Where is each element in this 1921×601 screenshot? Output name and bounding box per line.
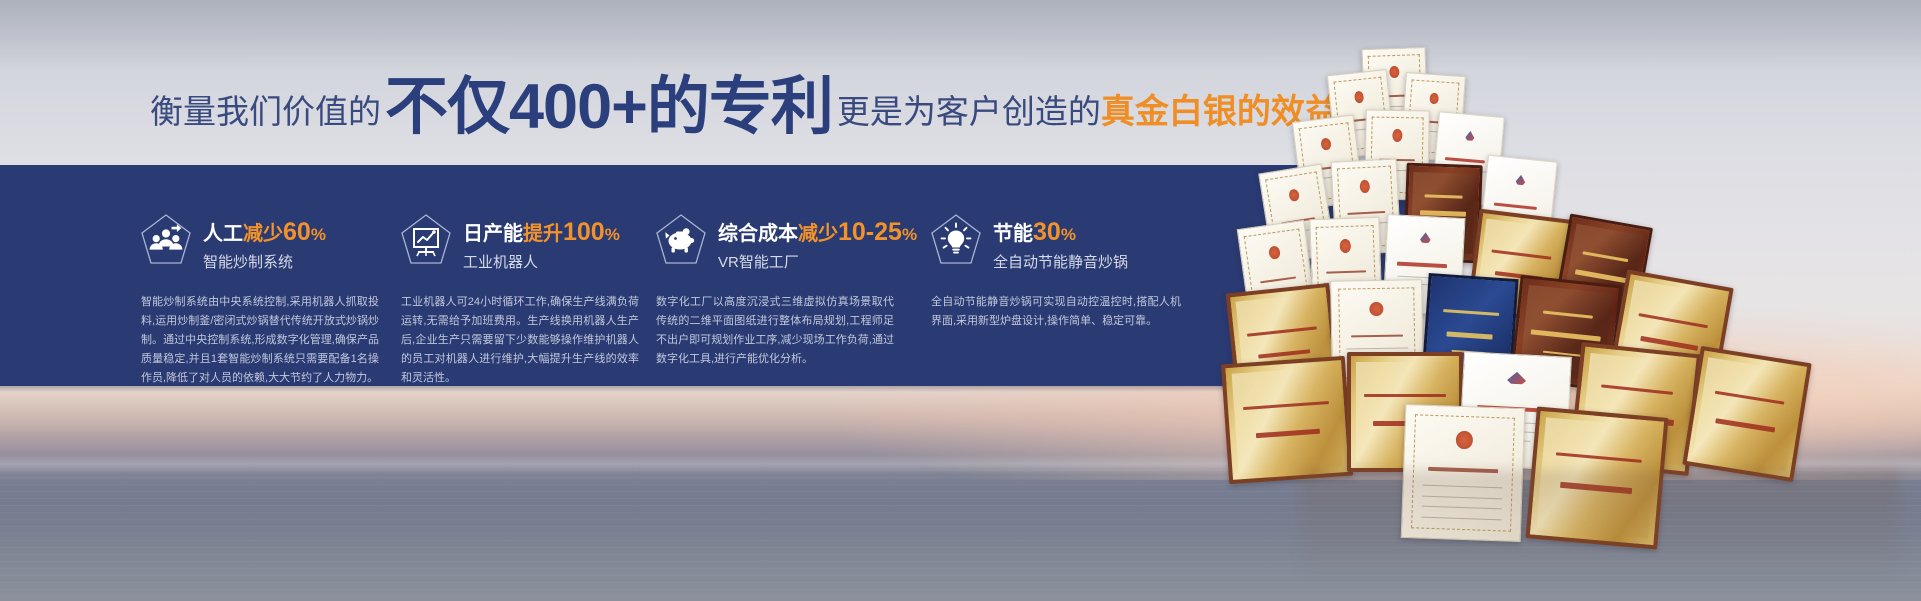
- people-group-icon: [140, 213, 192, 269]
- chart-board-icon: [400, 213, 452, 269]
- feature-2-title-keyword: 提升: [523, 223, 563, 245]
- feature-4-title-number: 30: [1033, 218, 1061, 246]
- feature-3-title-number: 10-25: [838, 218, 902, 246]
- feature-item-2: 日产能提升100% 工业机器人 工业机器人可24小时循环工作,确保生产线满负荷运…: [400, 165, 696, 386]
- headline-emphasis: 不仅400+的专利: [381, 76, 837, 139]
- headline-middle: 更是为客户创造的: [837, 95, 1101, 128]
- lightbulb-icon: [930, 213, 982, 269]
- feature-4-header: 节能30% 全自动节能静音炒锅: [930, 217, 1128, 273]
- headline-lead: 衡量我们价值的: [150, 95, 381, 128]
- feature-4-subtitle: 全自动节能静音炒锅: [993, 254, 1128, 272]
- feature-1-header: 人工减少60% 智能炒制系统: [140, 217, 326, 273]
- feature-1-title: 人工减少60%: [203, 219, 326, 247]
- feature-1-body: 智能炒制系统由中央系统控制,采用机器人抓取投料,运用炒制釜/密闭式炒锅替代传统开…: [141, 293, 379, 388]
- feature-3-subtitle: VR智能工厂: [718, 254, 917, 272]
- feature-2-title: 日产能提升100%: [463, 219, 620, 247]
- feature-1-title-prefix: 人工: [203, 223, 243, 245]
- feature-2-subtitle: 工业机器人: [463, 254, 620, 272]
- feature-1-title-keyword: 减少: [243, 223, 283, 245]
- feature-1-title-unit: %: [311, 225, 326, 244]
- feature-2-body: 工业机器人可24小时循环工作,确保生产线满负荷运转,无需给予加班费用。生产线换用…: [401, 293, 639, 388]
- feature-4-title-prefix: 节能: [993, 223, 1033, 245]
- feature-item-1: 人工减少60% 智能炒制系统 智能炒制系统由中央系统控制,采用机器人抓取投料,运…: [140, 165, 436, 386]
- feature-4-title-unit: %: [1061, 225, 1076, 244]
- feature-3-header: 综合成本减少10-25% VR智能工厂: [655, 217, 917, 273]
- feature-3-title: 综合成本减少10-25%: [718, 219, 917, 247]
- feature-panel: 人工减少60% 智能炒制系统 智能炒制系统由中央系统控制,采用机器人抓取投料,运…: [0, 165, 1416, 386]
- feature-1-title-number: 60: [283, 218, 311, 246]
- headline-highlight: 真金白银的效益: [1101, 95, 1339, 129]
- feature-item-3: 综合成本减少10-25% VR智能工厂 数字化工厂以高度沉浸式三维虚拟仿真场景取…: [655, 165, 951, 386]
- feature-3-title-unit: %: [902, 225, 917, 244]
- headline: 衡量我们价值的 不仅400+的专利 更是为客户创造的 真金白银的效益: [150, 72, 1339, 142]
- feature-4-body: 全自动节能静音炒锅可实现自动控温控时,搭配人机界面,采用新型炉盘设计,操作简单、…: [931, 293, 1181, 331]
- feature-2-title-unit: %: [605, 225, 620, 244]
- banner-stage: 衡量我们价值的 不仅400+的专利 更是为客户创造的 真金白银的效益: [0, 0, 1921, 601]
- feature-2-title-prefix: 日产能: [463, 223, 523, 245]
- feature-2-title-number: 100: [563, 218, 605, 246]
- feature-item-4: 节能30% 全自动节能静音炒锅 全自动节能静音炒锅可实现自动控温控时,搭配人机界…: [930, 165, 1226, 386]
- feature-4-title: 节能30%: [993, 219, 1128, 247]
- feature-3-title-prefix: 综合成本: [718, 223, 798, 245]
- piggy-bank-icon: [655, 213, 707, 269]
- feature-3-body: 数字化工厂以高度沉浸式三维虚拟仿真场景取代传统的二维平面图纸进行整体布局规划,工…: [656, 293, 894, 369]
- feature-3-title-keyword: 减少: [798, 223, 838, 245]
- feature-1-subtitle: 智能炒制系统: [203, 254, 326, 272]
- feature-2-header: 日产能提升100% 工业机器人: [400, 217, 620, 273]
